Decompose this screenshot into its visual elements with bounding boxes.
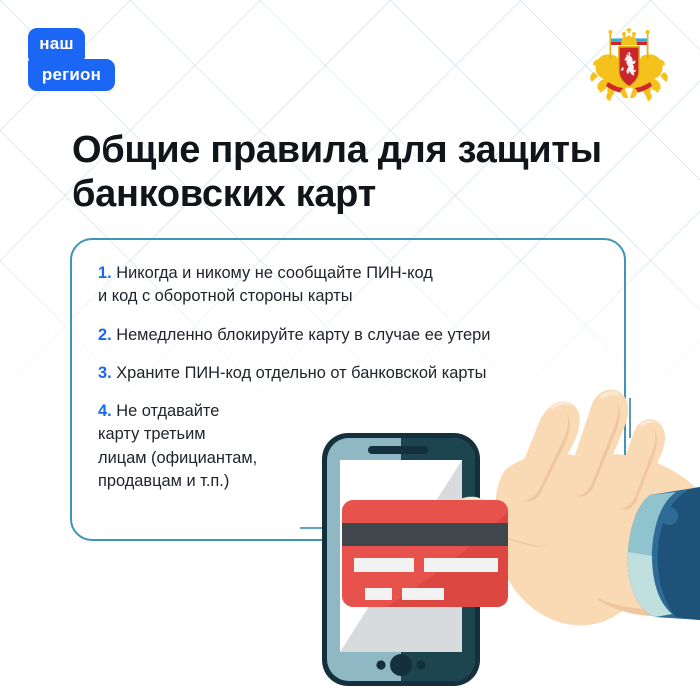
logo-line-2: регион (28, 59, 115, 91)
rule-line: 1. Никогда и никому не сообщайте ПИН-код (98, 262, 618, 285)
rule-line: 2. Немедленно блокируйте карту в случае … (98, 324, 618, 347)
logo-line-1: наш (28, 28, 85, 60)
rule-line: 3. Храните ПИН-код отдельно от банковско… (98, 362, 618, 385)
rule-text: и код с оборотной стороны карты (98, 285, 618, 308)
rule-text: продавцам и т.п.) (98, 470, 313, 493)
rule-text: Не отдавайте (116, 402, 219, 420)
list-item: 3. Храните ПИН-код отдельно от банковско… (98, 362, 618, 385)
rule-line: 4. Не отдавайте (98, 400, 313, 423)
rule-number: 3. (98, 364, 112, 382)
page-title-line-2: банковских карт (72, 172, 652, 216)
sleeve-icon (628, 487, 700, 620)
rule-number: 1. (98, 264, 112, 282)
rule-text: Храните ПИН-код отдельно от банковской к… (116, 364, 486, 382)
list-item: 2. Немедленно блокируйте карту в случае … (98, 324, 618, 347)
page-title-line-1: Общие правила для защиты (72, 128, 652, 172)
rule-text: лицам (официантам, (98, 447, 313, 470)
rule-number: 2. (98, 326, 112, 344)
rule-text: карту третьим (98, 423, 313, 446)
list-item: 4. Не отдавайте карту третьим лицам (офи… (98, 400, 313, 493)
brand-logo: наш регион (28, 28, 115, 91)
list-item: 1. Никогда и никому не сообщайте ПИН-код… (98, 262, 618, 309)
rule-text: Никогда и никому не сообщайте ПИН-код (116, 264, 433, 282)
rule-text: Немедленно блокируйте карту в случае ее … (116, 326, 490, 344)
page-title: Общие правила для защиты банковских карт (72, 128, 652, 216)
coat-of-arms-icon (588, 24, 670, 102)
rules-list: 1. Никогда и никому не сообщайте ПИН-код… (98, 262, 618, 493)
rule-number: 4. (98, 402, 112, 420)
